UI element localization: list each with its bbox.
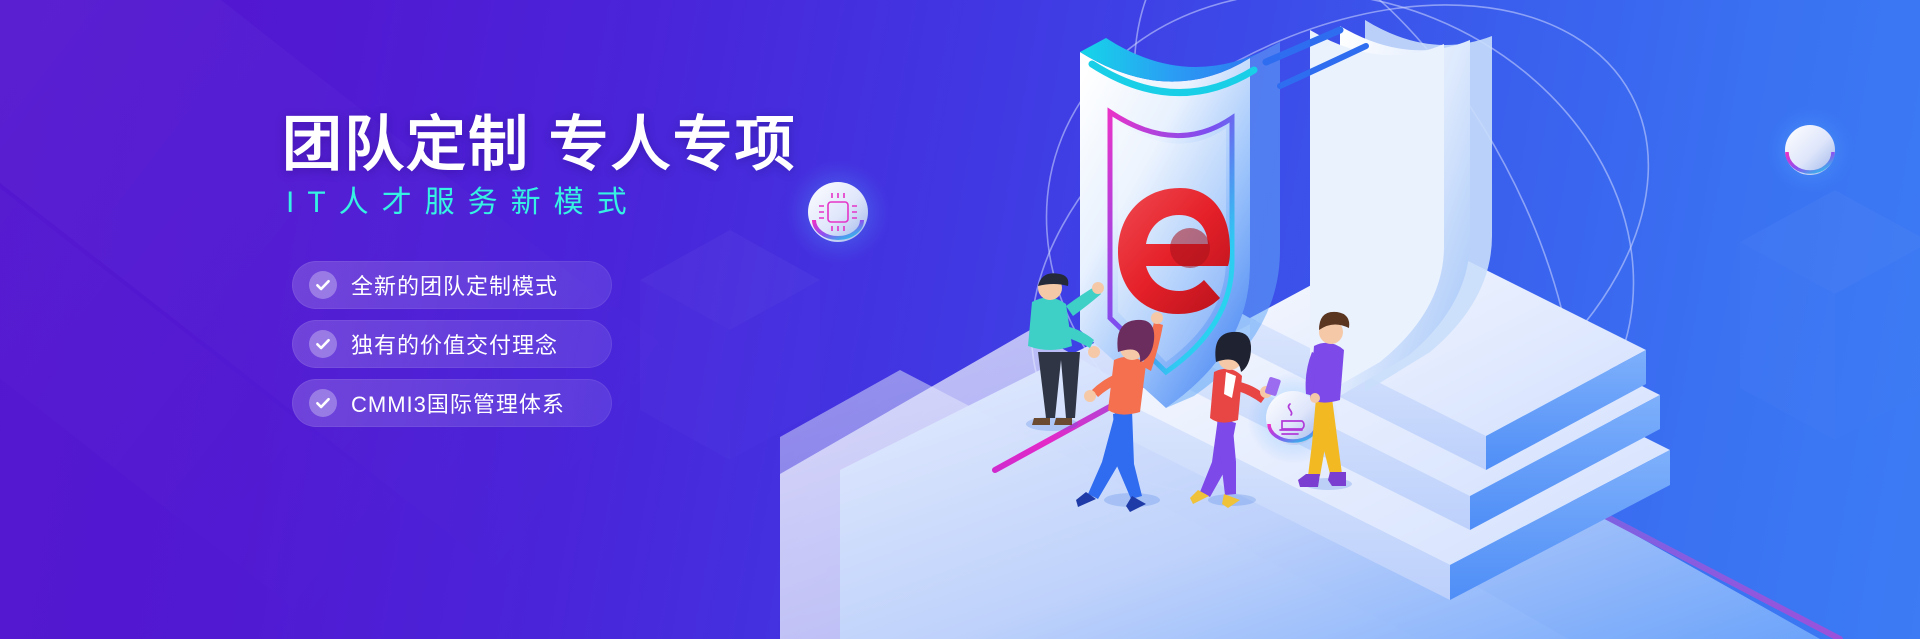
banner-copy: 团队定制 专人专项 IT人才服务新模式 全新的团队定制模式 独有的价值交付理念 — [0, 0, 780, 639]
orbit-node-chip — [786, 160, 890, 264]
promo-banner: 团队定制 专人专项 IT人才服务新模式 全新的团队定制模式 独有的价值交付理念 — [0, 0, 1920, 639]
feature-pill-3[interactable]: CMMI3国际管理体系 — [292, 379, 612, 427]
feature-pill-2[interactable]: 独有的价值交付理念 — [292, 320, 612, 368]
page-title: 团队定制 专人专项 — [282, 96, 797, 183]
check-icon — [309, 389, 337, 417]
orbit-node-sphere — [1766, 106, 1854, 194]
check-icon — [309, 271, 337, 299]
check-icon — [309, 330, 337, 358]
feature-pill-label: 独有的价值交付理念 — [351, 328, 558, 360]
feature-pill-label: CMMI3国际管理体系 — [351, 387, 565, 419]
hero-illustration — [780, 0, 1920, 639]
page-subtitle: IT人才服务新模式 — [286, 177, 640, 221]
feature-pill-1[interactable]: 全新的团队定制模式 — [292, 261, 612, 309]
shield-logo-e — [1118, 188, 1230, 314]
feature-pill-label: 全新的团队定制模式 — [351, 269, 558, 301]
